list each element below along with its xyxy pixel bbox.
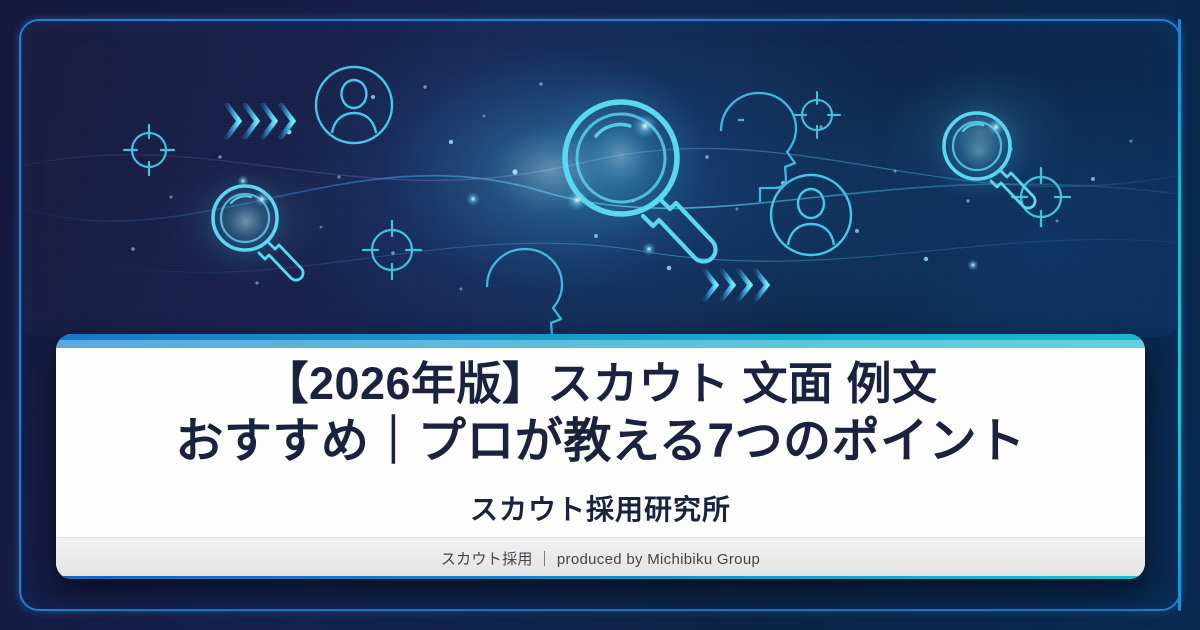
page-title-line-1: 【2026年版】スカウト 文面 例文: [263, 357, 937, 410]
footer-accent-rule: [56, 576, 1145, 579]
footer-credit-text: スカウト採用 ｜ produced by Michibiku Group: [441, 548, 760, 569]
site-name-subtitle: スカウト採用研究所: [470, 488, 731, 528]
card-accent-strip: [56, 334, 1145, 348]
content-card: 【2026年版】スカウト 文面 例文 おすすめ｜プロが教える7つのポイント スカ…: [56, 334, 1145, 579]
hero-illustration: [21, 21, 1179, 337]
right-accent-edge: [1178, 19, 1181, 611]
hero-artwork-layer: [21, 21, 1179, 337]
particle-dot: [642, 242, 656, 256]
card-body: 【2026年版】スカウト 文面 例文 おすすめ｜プロが教える7つのポイント スカ…: [56, 348, 1145, 537]
crosshair-target-icon: [794, 92, 840, 138]
chevron-arrows-icon: [705, 271, 767, 299]
avatar-circle-icon: [771, 175, 851, 255]
particle-dot: [466, 192, 480, 206]
accent-strip-secondary: [56, 340, 1145, 348]
crosshair-target-icon: [124, 125, 174, 175]
page-title-line-2: おすすめ｜プロが教える7つのポイント: [175, 414, 1025, 471]
particle-dot: [967, 259, 979, 271]
ogp-banner: 【2026年版】スカウト 文面 例文 おすすめ｜プロが教える7つのポイント スカ…: [0, 0, 1200, 630]
chevron-arrows-icon: [227, 105, 293, 137]
avatar-circle-icon: [316, 67, 392, 143]
card-footer: スカウト採用 ｜ produced by Michibiku Group: [56, 537, 1145, 579]
